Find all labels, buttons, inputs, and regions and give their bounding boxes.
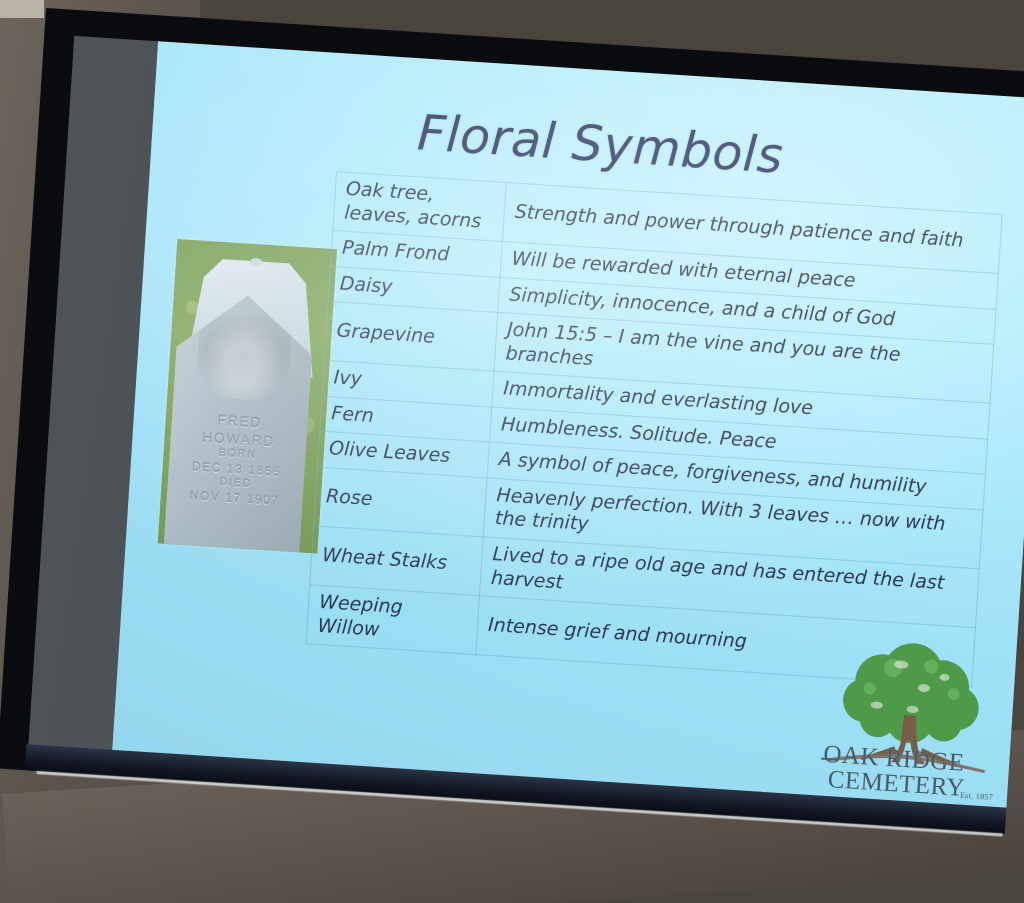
projection-screen-assembly: Floral Symbols FRED HOWARD BORN DEC 13 1… (0, 8, 1024, 881)
page-title: Floral Symbols (151, 87, 1024, 202)
table-body: Oak tree, leaves, acorns Strength and po… (306, 172, 1002, 687)
gravestone-photo: FRED HOWARD BORN DEC 13 1855 DIED NOV 17… (158, 239, 337, 554)
presentation-slide: Floral Symbols FRED HOWARD BORN DEC 13 1… (112, 41, 1024, 809)
screenshot-root: Floral Symbols FRED HOWARD BORN DEC 13 1… (0, 0, 1024, 903)
floral-symbols-table: Oak tree, leaves, acorns Strength and po… (305, 171, 1002, 687)
symbol-term: Oak tree, leaves, acorns (333, 172, 506, 242)
headstone-inscription: FRED HOWARD BORN DEC 13 1855 DIED NOV 17… (166, 409, 308, 511)
symbol-term: Grapevine (324, 302, 497, 372)
oak-ridge-cemetery-logo: OAK RIDGE CEMETERY Est. 1857 (819, 624, 1002, 810)
logo-wordmark: OAK RIDGE CEMETERY Est. 1857 (821, 743, 996, 803)
symbol-term: Weeping Willow (306, 585, 479, 655)
ceiling-corner (0, 0, 44, 18)
symbol-term: Wheat Stalks (310, 526, 483, 596)
floral-symbols-table-wrap: Oak tree, leaves, acorns Strength and po… (305, 171, 1002, 687)
symbol-term: Rose (314, 467, 487, 537)
